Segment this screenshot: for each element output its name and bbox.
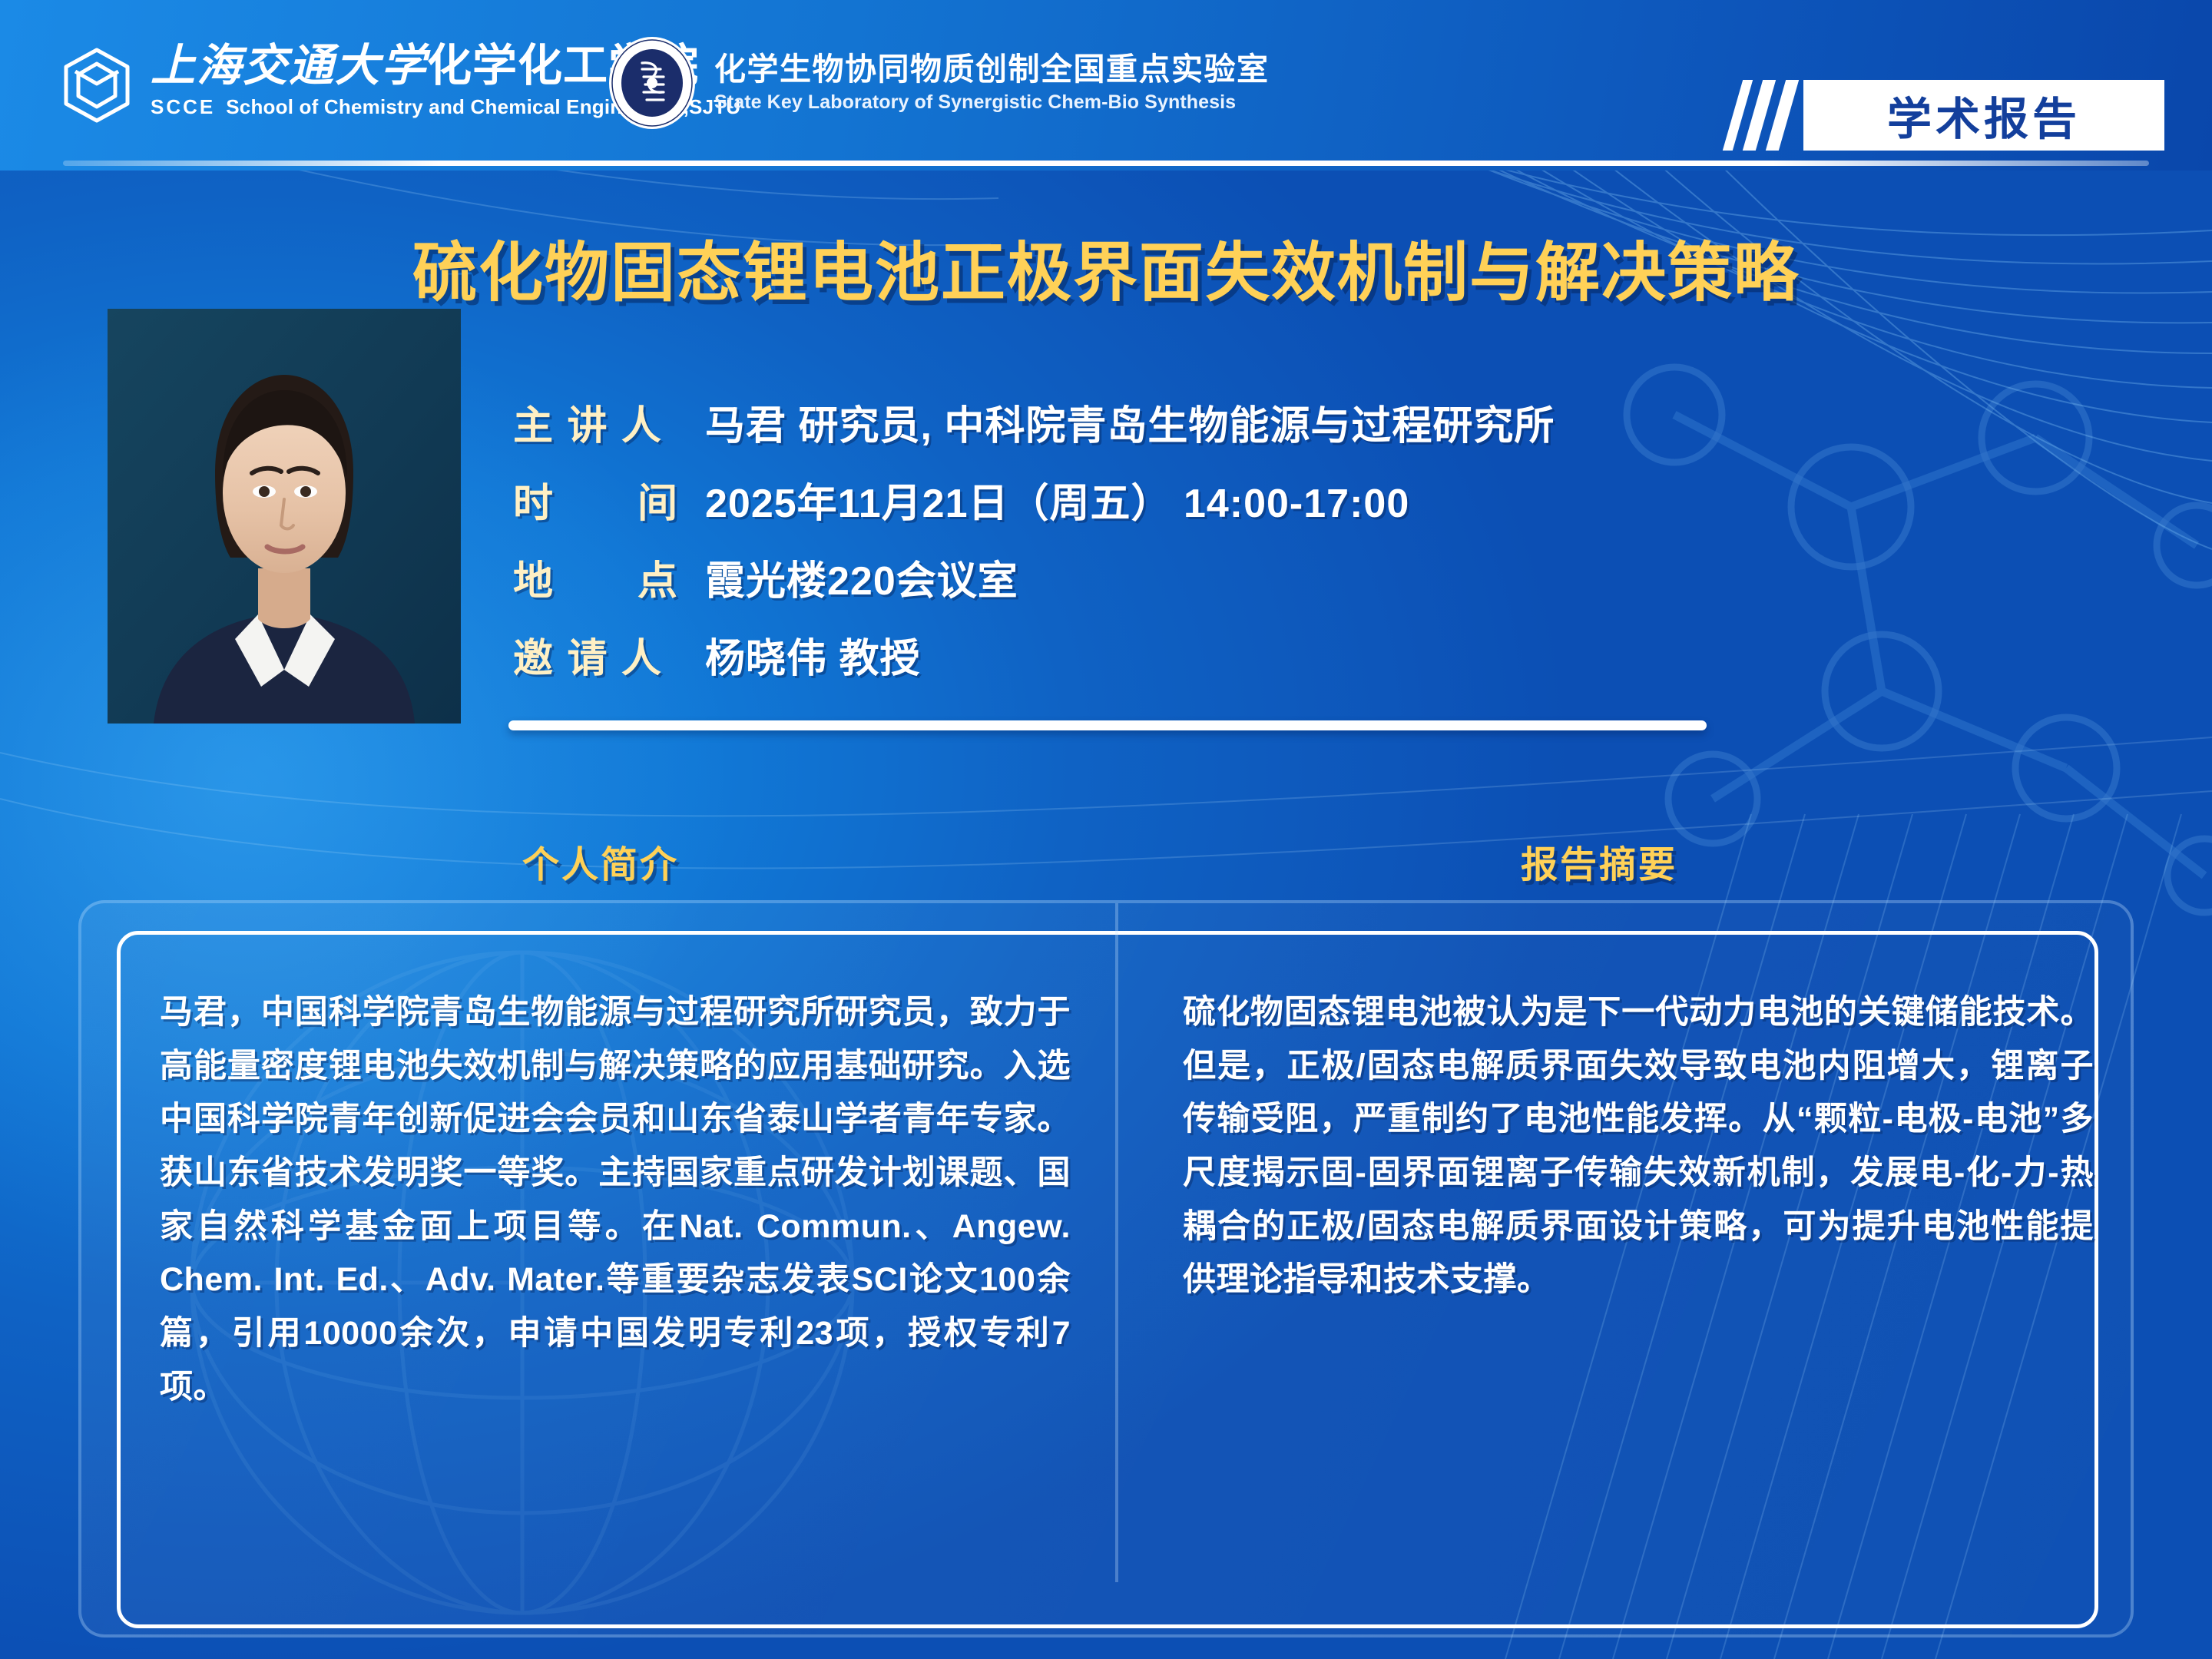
info-value-time: 2025年11月21日（周五） 14:00-17:00 — [705, 471, 1409, 528]
badge-box: 学术报告 — [1803, 80, 2164, 151]
info-value-host: 杨晓伟 教授 — [705, 626, 920, 684]
page-title: 硫化物固态锂电池正极界面失效机制与解决策略 — [0, 221, 2212, 314]
lab-seal-logo-icon — [607, 35, 697, 131]
badge-label: 学术报告 — [1887, 83, 2081, 147]
bio-body-text: 马君，中国科学院青岛生物能源与过程研究所研究员，致力于高能量密度锂电池失效机制与… — [160, 986, 1071, 1414]
info-label-location: 地 点 — [513, 548, 705, 606]
info-row-speaker: 主 讲 人 马君 研究员, 中科院青岛生物能源与过程研究所 — [513, 393, 1742, 451]
info-row-host: 邀 请 人 杨晓伟 教授 — [513, 626, 1742, 684]
lab-chinese-name: 化学生物协同物质创制全国重点实验室 — [714, 52, 1270, 88]
lab-english-name: State Key Laboratory of Synergistic Chem… — [714, 91, 1270, 114]
abstract-body-text: 硫化物固态锂电池被认为是下一代动力电池的关键储能技术。但是，正极/固态电解质界面… — [1183, 986, 2094, 1307]
info-label-speaker: 主 讲 人 — [513, 393, 705, 451]
avatar — [108, 309, 461, 724]
event-info-block: 主 讲 人 马君 研究员, 中科院青岛生物能源与过程研究所 时 间 2025年1… — [513, 393, 1742, 704]
sjtu-university-name: 上海交通大学 — [151, 41, 427, 91]
poster-header: 上海交通大学化学化工学院 SCCESchool of Chemistry and… — [0, 0, 2212, 171]
info-row-location: 地 点 霞光楼220会议室 — [513, 548, 1742, 606]
sjtu-abbrev: SCCE — [151, 95, 215, 118]
header-divider — [63, 161, 2149, 166]
info-divider — [508, 720, 1707, 730]
academic-report-badge: 学术报告 — [1733, 80, 2164, 151]
speaker-portrait-photo — [108, 309, 461, 724]
sjtu-hexagon-logo-icon — [60, 45, 134, 125]
abstract-section-heading: 报告摘要 — [1521, 834, 1677, 888]
info-row-time: 时 间 2025年11月21日（周五） 14:00-17:00 — [513, 471, 1742, 528]
slanted-stripes-accent-icon — [1733, 80, 1799, 151]
bio-section-heading: 个人简介 — [522, 834, 679, 888]
info-value-speaker: 马君 研究员, 中科院青岛生物能源与过程研究所 — [705, 393, 1555, 451]
state-key-lab-logo: 化学生物协同物质创制全国重点实验室 State Key Laboratory o… — [607, 35, 1270, 131]
info-label-host: 邀 请 人 — [513, 626, 705, 684]
seminar-poster: 上海交通大学化学化工学院 SCCESchool of Chemistry and… — [0, 0, 2212, 1659]
info-value-location: 霞光楼220会议室 — [705, 548, 1018, 606]
info-label-time: 时 间 — [513, 471, 705, 528]
content-panel-divider — [1115, 903, 1118, 1582]
